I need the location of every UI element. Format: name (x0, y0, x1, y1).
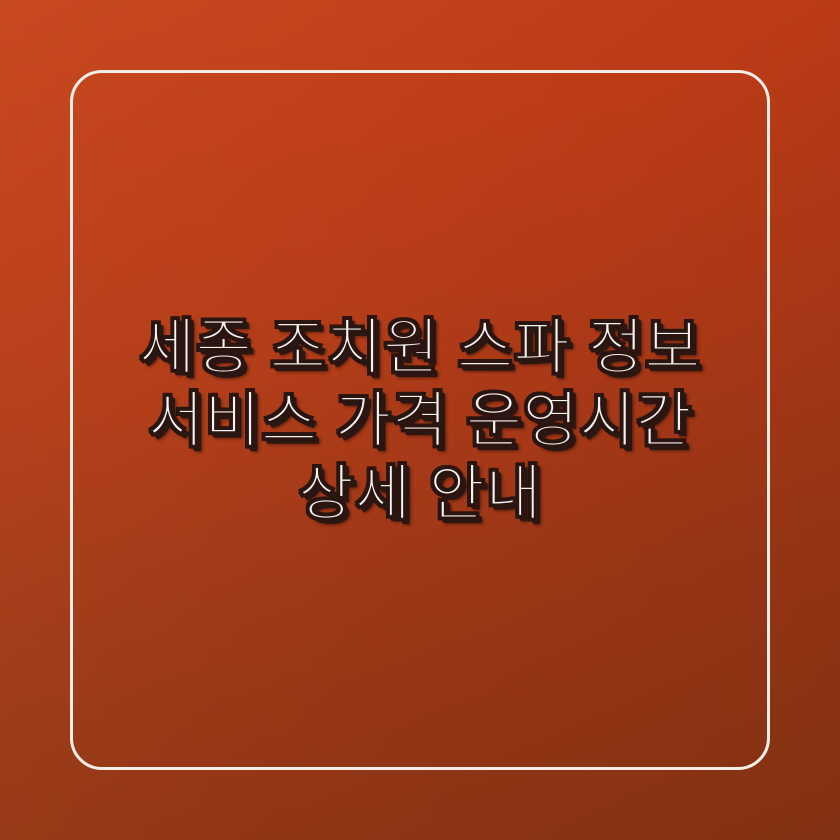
title-block: 세종 조치원 스파 정보 서비스 가격 운영시간 상세 안내 (0, 0, 840, 840)
title-line-2: 서비스 가격 운영시간 (96, 384, 744, 457)
title-line-1: 세종 조치원 스파 정보 (96, 311, 744, 384)
title-line-3: 상세 안내 (96, 457, 744, 530)
poster-canvas: 세종 조치원 스파 정보 서비스 가격 운영시간 상세 안내 (0, 0, 840, 840)
